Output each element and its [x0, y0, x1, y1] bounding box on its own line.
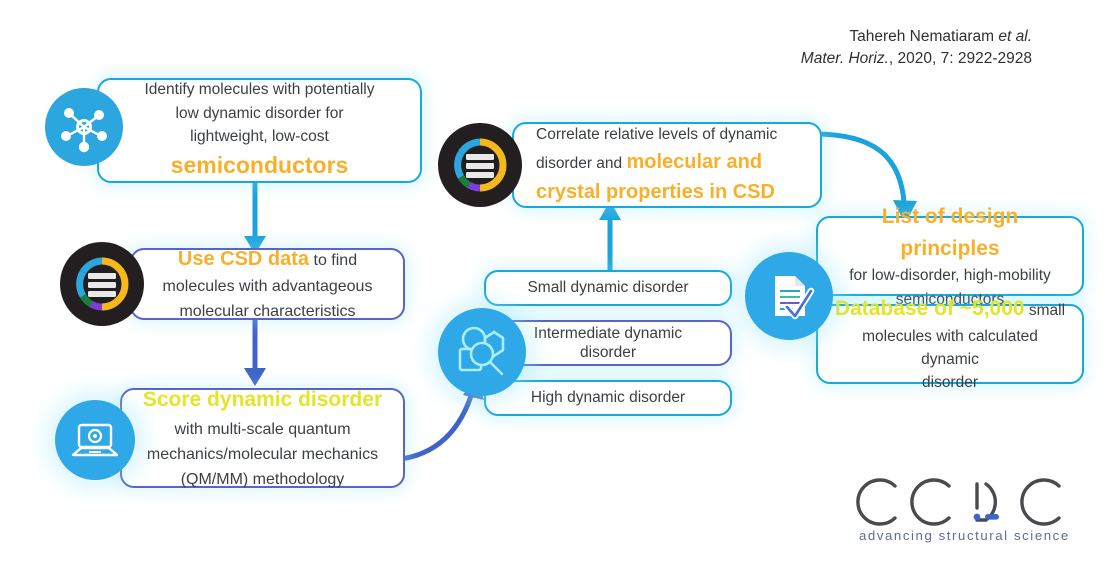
identify-highlight: semiconductors: [113, 148, 406, 183]
citation-block: Tahereh Nematiaram et al. Mater. Horiz.,…: [801, 26, 1032, 71]
step-use-csd-box[interactable]: Use CSD data to find molecules with adva…: [130, 248, 405, 320]
connector-csd-to-score: [235, 318, 275, 390]
disorder-level-high-label: High dynamic disorder: [486, 386, 730, 409]
citation-line-1: Tahereh Nematiaram et al.: [801, 26, 1032, 48]
database-line-3: disorder: [832, 371, 1068, 394]
citation-etal: et al.: [998, 28, 1032, 45]
score-line-2: with multi-scale quantum: [136, 418, 389, 443]
score-line-3: mechanics/molecular mechanics: [136, 443, 389, 468]
document-check-glyph: [757, 264, 821, 328]
identify-line-1: Identify molecules with potentially: [113, 78, 406, 101]
csd-database-icon-correlate: [438, 123, 522, 207]
score-line-4: (QM/MM) methodology: [136, 468, 389, 493]
step-use-csd-text: Use CSD data to find molecules with adva…: [132, 244, 403, 325]
csd-database-glyph: [71, 253, 133, 315]
infographic-canvas: Tahereh Nematiaram et al. Mater. Horiz.,…: [0, 0, 1120, 586]
csd-database-icon: [60, 242, 144, 326]
ccdc-tagline: advancing structural science: [859, 528, 1070, 543]
shapes-magnifier-glyph: [449, 319, 515, 385]
design-principles-line-2: for low-disorder, high-mobility: [832, 264, 1068, 287]
database-text: Database of ~5,000 small molecules with …: [818, 293, 1082, 394]
use-csd-line-1: Use CSD data to find: [146, 244, 389, 275]
correlate-highlight-1: molecular and: [626, 151, 762, 173]
connector-levels-to-correlate: [590, 198, 630, 272]
database-highlight: Database of ~5,000: [835, 297, 1025, 320]
correlate-highlight-2: crystal properties in CSD: [536, 177, 806, 207]
disorder-level-high[interactable]: High dynamic disorder: [484, 380, 732, 416]
molecule-network-icon: [45, 88, 123, 166]
correlate-line-1: Correlate relative levels of dynamic: [536, 123, 806, 146]
database-line-2: molecules with calculated dynamic: [832, 325, 1068, 372]
correlate-line-2: disorder and molecular and: [536, 147, 806, 177]
database-box[interactable]: Database of ~5,000 small molecules with …: [816, 304, 1084, 384]
use-csd-rest: to find: [309, 252, 357, 269]
step-identify-box[interactable]: Identify molecules with potentially low …: [97, 78, 422, 183]
database-rest: small: [1025, 302, 1065, 319]
use-csd-line-3: molecular characteristics: [146, 300, 389, 325]
step-score-text: Score dynamic disorder with multi-scale …: [122, 384, 403, 493]
correlate-plain: disorder and: [536, 155, 626, 172]
database-line-1: Database of ~5,000 small: [832, 293, 1068, 325]
step-score-box[interactable]: Score dynamic disorder with multi-scale …: [120, 388, 405, 488]
use-csd-line-2: molecules with advantageous: [146, 275, 389, 300]
use-csd-highlight: Use CSD data: [178, 248, 309, 270]
step-correlate-text: Correlate relative levels of dynamic dis…: [514, 123, 820, 206]
disorder-level-small-label: Small dynamic disorder: [486, 276, 730, 299]
citation-author: Tahereh Nematiaram: [849, 28, 998, 45]
citation-line-2: Mater. Horiz., 2020, 7: 2922-2928: [801, 48, 1032, 70]
design-principles-box[interactable]: List of design principles for low-disord…: [816, 216, 1084, 296]
disorder-level-small[interactable]: Small dynamic disorder: [484, 270, 732, 306]
citation-volume: , 2020, 7: 2922-2928: [889, 50, 1032, 67]
identify-line-2: low dynamic disorder for: [113, 102, 406, 125]
laptop-compute-icon: [55, 400, 135, 480]
score-highlight: Score dynamic disorder: [136, 384, 389, 417]
molecule-network-glyph: [55, 98, 113, 156]
citation-journal: Mater. Horiz.: [801, 50, 889, 67]
ccdc-wordmark-glyph: [855, 476, 1065, 528]
identify-line-3: lightweight, low-cost: [113, 125, 406, 148]
laptop-compute-glyph: [66, 411, 124, 469]
shapes-magnifier-icon: [438, 308, 526, 396]
document-check-icon: [745, 252, 833, 340]
step-correlate-box[interactable]: Correlate relative levels of dynamic dis…: [512, 122, 822, 208]
csd-database-glyph-2: [449, 134, 511, 196]
step-identify-text: Identify molecules with potentially low …: [99, 78, 420, 182]
ccdc-logo: advancing structural science: [855, 476, 1065, 546]
design-principles-highlight: List of design principles: [832, 201, 1068, 264]
